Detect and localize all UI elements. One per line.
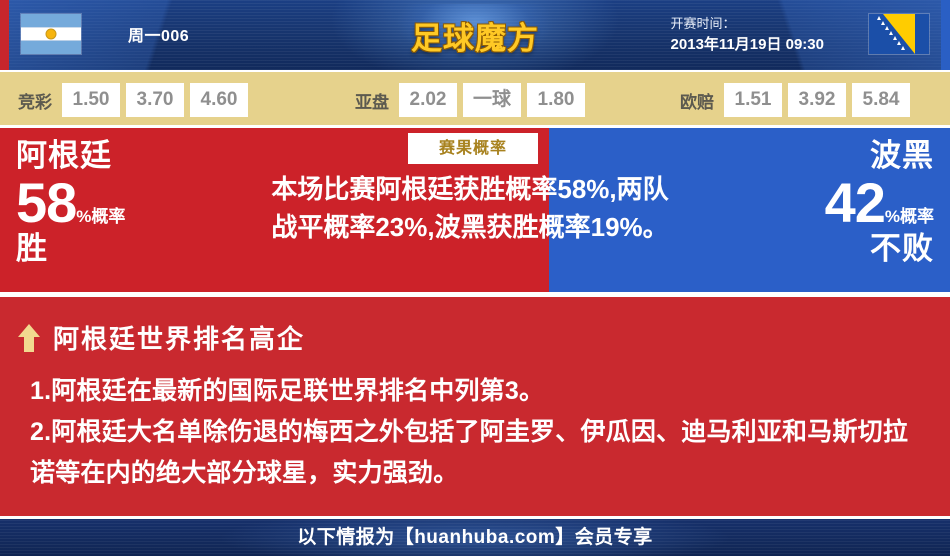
away-probability-unit: %概率 (885, 207, 934, 226)
site-logo-text: 足球魔方 (411, 13, 539, 58)
away-probability-value: 42 (825, 171, 885, 234)
bosnia-herzegovina-flag-icon (868, 13, 930, 55)
odds-cell[interactable]: 2.02 (399, 83, 457, 117)
kickoff-info: 开赛时间： 2013年11月19日 09:30 (671, 13, 824, 55)
kickoff-label: 开赛时间： (671, 13, 824, 34)
odds-cell[interactable]: 1.50 (62, 83, 120, 117)
odds-group-oupei: 欧赔 1.51 3.92 5.84 (680, 83, 910, 117)
home-team-name: 阿根廷 (16, 140, 125, 171)
header-edge-blue (941, 0, 950, 70)
odds-group-yapan: 亚盘 2.02 一球 1.80 (355, 83, 585, 117)
probability-summary-line: 战平概率23%,波黑获胜概率19%。 (230, 208, 710, 246)
argentina-flag-icon (20, 13, 82, 55)
odds-group-jingcai: 竞彩 1.50 3.70 4.60 (18, 83, 248, 117)
odds-bar: 竞彩 1.50 3.70 4.60 亚盘 2.02 一球 1.80 欧赔 1.5… (0, 70, 950, 128)
odds-cell[interactable]: 5.84 (852, 83, 910, 117)
header-edge-red (0, 0, 9, 70)
probability-summary: 本场比赛阿根廷获胜概率58%,两队 战平概率23%,波黑获胜概率19%。 (230, 170, 710, 246)
analysis-title: 阿根廷世界排名高企 (53, 319, 305, 356)
match-number: 周一006 (128, 22, 189, 46)
home-probability-unit: %概率 (76, 207, 125, 226)
odds-cell[interactable]: 一球 (463, 83, 521, 117)
home-probability-value-row: 58%概率 (16, 175, 125, 231)
analysis-header: 阿根廷世界排名高企 (18, 319, 305, 356)
odds-label-oupei: 欧赔 (680, 88, 714, 113)
away-outcome-label: 不败 (825, 233, 934, 264)
site-logo[interactable]: 足球魔方 (398, 4, 552, 66)
arrow-up-icon (18, 324, 40, 352)
odds-cell[interactable]: 1.51 (724, 83, 782, 117)
probability-summary-line: 本场比赛阿根廷获胜概率58%,两队 (230, 170, 710, 208)
home-probability-block: 阿根廷 58%概率 胜 (16, 140, 125, 264)
away-team-name: 波黑 (825, 140, 934, 171)
analysis-point: 1.阿根廷在最新的国际足联世界排名中列第3。 (30, 371, 930, 412)
match-preview-card: 周一006 足球魔方 开赛时间： 2013年11月19日 09:30 竞彩 1.… (0, 0, 950, 556)
odds-cell[interactable]: 3.92 (788, 83, 846, 117)
analysis-section: 阿根廷世界排名高企 1.阿根廷在最新的国际足联世界排名中列第3。 2.阿根廷大名… (0, 292, 950, 516)
footer-notice: 以下情报为【huanhuba.com】会员专享 (0, 519, 950, 556)
home-probability-value: 58 (16, 171, 76, 234)
odds-cell[interactable]: 3.70 (126, 83, 184, 117)
analysis-point: 2.阿根廷大名单除伤退的梅西之外包括了阿圭罗、伊瓜因、迪马利亚和马斯切拉诺等在内… (30, 412, 930, 494)
odds-label-yapan: 亚盘 (355, 88, 389, 113)
kickoff-time: 2013年11月19日 09:30 (671, 34, 824, 55)
odds-cell[interactable]: 4.60 (190, 83, 248, 117)
analysis-body: 1.阿根廷在最新的国际足联世界排名中列第3。 2.阿根廷大名单除伤退的梅西之外包… (30, 371, 930, 494)
home-outcome-label: 胜 (16, 233, 125, 264)
probability-section: 赛果概率 阿根廷 58%概率 胜 波黑 42%概率 不败 本场比赛阿根廷获胜概率… (0, 128, 950, 292)
card-footer: 以下情报为【huanhuba.com】会员专享 (0, 516, 950, 556)
odds-label-jingcai: 竞彩 (18, 88, 52, 113)
away-probability-block: 波黑 42%概率 不败 (825, 140, 934, 264)
odds-cell[interactable]: 1.80 (527, 83, 585, 117)
away-probability-value-row: 42%概率 (825, 175, 934, 231)
card-header: 周一006 足球魔方 开赛时间： 2013年11月19日 09:30 (0, 0, 950, 70)
probability-tab-label: 赛果概率 (408, 133, 538, 164)
